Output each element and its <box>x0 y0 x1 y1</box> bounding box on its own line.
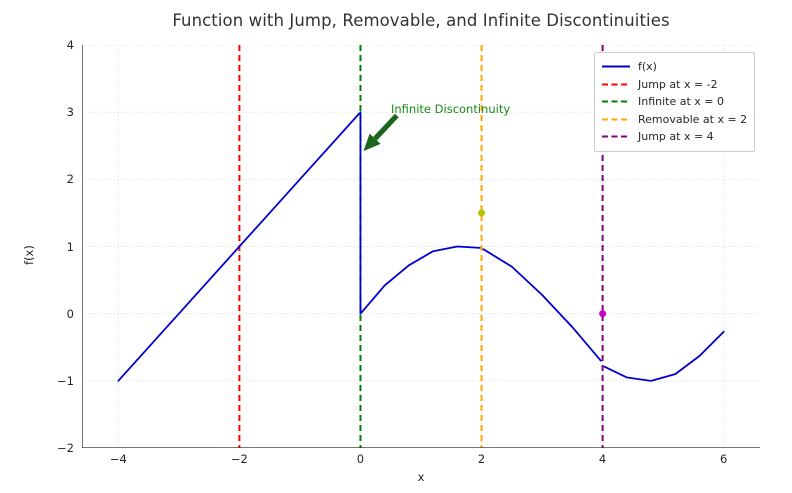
legend-label: Jump at x = -2 <box>638 78 718 91</box>
x-tick-0: 0 <box>340 452 380 467</box>
discontinuity-markers <box>478 209 606 317</box>
y-tick-label: 2 <box>44 172 74 186</box>
x-tick-label: −4 <box>98 452 138 466</box>
x-tick-label: 2 <box>462 452 502 466</box>
x-tick-6: 6 <box>704 452 744 467</box>
y-tick-4: 4 <box>44 38 74 52</box>
jump-point <box>599 310 606 317</box>
y-tick--2: −2 <box>44 441 74 455</box>
x-tick-label: 4 <box>583 452 623 466</box>
legend-swatch-icon <box>601 79 631 90</box>
y-axis-label: f(x) <box>22 245 36 265</box>
figure-canvas: Function with Jump, Removable, and Infin… <box>0 0 792 493</box>
legend-item-0[interactable]: f(x) <box>601 58 747 76</box>
x-tick-label: 0 <box>340 452 380 466</box>
removable-point <box>478 209 485 216</box>
y-tick-3: 3 <box>44 105 74 119</box>
legend-label: Removable at x = 2 <box>638 113 747 126</box>
legend-label: Jump at x = 4 <box>638 130 714 143</box>
annotation-label: Infinite Discontinuity <box>391 102 510 116</box>
y-tick-label: −2 <box>44 441 74 455</box>
x-axis-label: x <box>82 470 760 484</box>
x-tick--4: −4 <box>98 452 138 467</box>
x-tick-4: 4 <box>583 452 623 467</box>
chart-title: Function with Jump, Removable, and Infin… <box>82 11 760 30</box>
legend-box: f(x)Jump at x = -2Infinite at x = 0Remov… <box>594 52 755 152</box>
y-tick-label: 0 <box>44 307 74 321</box>
x-tick-label: 6 <box>704 452 744 466</box>
legend-swatch-icon <box>601 114 631 125</box>
y-tick-label: 1 <box>44 240 74 254</box>
legend-swatch-icon <box>601 96 631 107</box>
y-tick-0: 0 <box>44 307 74 321</box>
x-tick-2: 2 <box>462 452 502 467</box>
y-tick-label: 4 <box>44 38 74 52</box>
annotation-arrow <box>363 116 396 152</box>
legend-swatch-icon <box>601 61 631 72</box>
y-tick-2: 2 <box>44 172 74 186</box>
legend-item-4[interactable]: Jump at x = 4 <box>601 128 747 146</box>
y-tick-label: −1 <box>44 374 74 388</box>
legend-item-2[interactable]: Infinite at x = 0 <box>601 93 747 111</box>
x-tick--2: −2 <box>219 452 259 467</box>
legend-swatch-icon <box>601 131 631 142</box>
y-tick--1: −1 <box>44 374 74 388</box>
x-tick-label: −2 <box>219 452 259 466</box>
y-tick-1: 1 <box>44 240 74 254</box>
legend-label: Infinite at x = 0 <box>638 95 724 108</box>
legend-item-3[interactable]: Removable at x = 2 <box>601 111 747 129</box>
legend-item-1[interactable]: Jump at x = -2 <box>601 76 747 94</box>
y-tick-label: 3 <box>44 105 74 119</box>
legend-label: f(x) <box>638 60 657 73</box>
